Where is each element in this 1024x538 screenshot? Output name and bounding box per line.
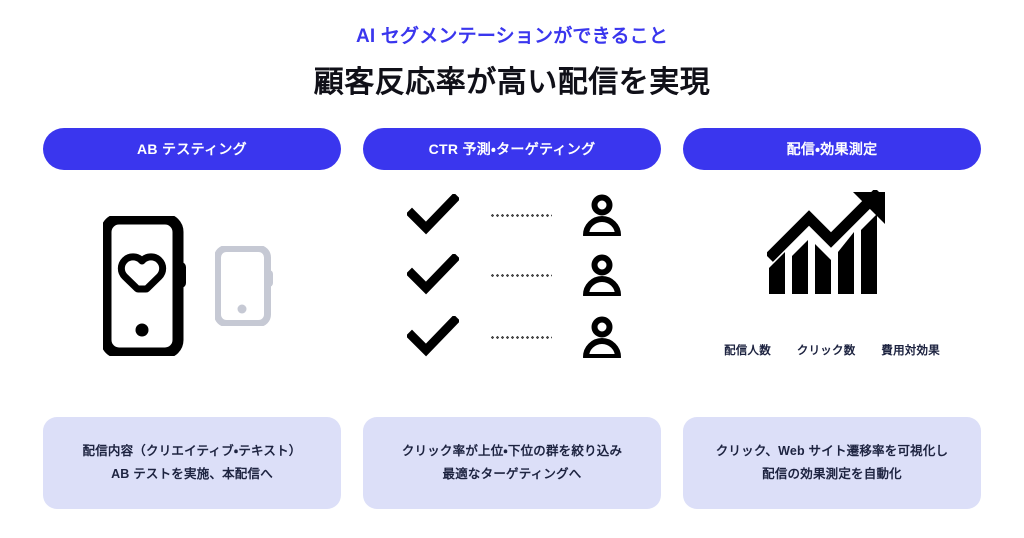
pill-header-ctr-targeting[interactable]: CTR 予測・ターゲティング [363, 128, 661, 170]
growth-bar-chart-icon [767, 190, 887, 306]
caption-line: 最適なターゲティングへ [443, 463, 582, 486]
phone-primary-icon [103, 216, 189, 356]
illustration-growth-chart: 配信人数 クリック数 費用対効果 [683, 180, 981, 412]
person-icon [583, 316, 623, 358]
dotted-connector-icon [490, 336, 552, 339]
person-icon [583, 254, 623, 296]
caption-line: AB テストを実施、本配信へ [111, 463, 273, 486]
caption-line: 配信内容（クリエイティブ・テキスト） [83, 440, 302, 463]
column-ctr-targeting: CTR 予測・ターゲティング [363, 128, 661, 512]
pill-header-delivery-measurement[interactable]: 配信・効果測定 [683, 128, 981, 170]
dotted-connector-icon [490, 274, 552, 277]
chart-label: 費用対効果 [881, 342, 940, 358]
chart-label: クリック数 [797, 342, 856, 358]
column-delivery-measurement: 配信・効果測定 配信人数 [683, 128, 981, 512]
caption-line: クリック、Web サイト遷移率を可視化し [716, 440, 949, 463]
caption-card-ctr-targeting: クリック率が上位・下位の群を絞り込み 最適なターゲティングへ [363, 417, 661, 509]
checkmark-icon [407, 316, 459, 358]
page-title: 顧客反応率が高い配信を実現 [0, 63, 1024, 102]
chart-label: 配信人数 [724, 342, 771, 358]
chart-axis-labels: 配信人数 クリック数 費用対効果 [697, 342, 967, 358]
person-icon [583, 194, 623, 236]
match-row [407, 252, 623, 298]
checkmark-icon [407, 254, 459, 296]
pill-header-ab-testing[interactable]: AB テスティング [43, 128, 341, 170]
caption-card-ab-testing: 配信内容（クリエイティブ・テキスト） AB テストを実施、本配信へ [43, 417, 341, 509]
checkmark-icon [407, 194, 459, 236]
caption-line: クリック率が上位・下位の群を絞り込み [402, 440, 622, 463]
caption-line: 配信の効果測定を自動化 [762, 463, 902, 486]
illustration-two-phones [43, 180, 341, 412]
dotted-connector-icon [490, 214, 552, 217]
match-row [407, 192, 623, 238]
phone-secondary-icon [215, 246, 275, 326]
illustration-check-person-rows [363, 180, 661, 412]
infographic-slide: AI セグメンテーションができること 顧客反応率が高い配信を実現 AB テスティ… [0, 0, 1024, 538]
eyebrow-title: AI セグメンテーションができること [0, 26, 1024, 49]
match-row [407, 314, 623, 360]
caption-card-delivery-measurement: クリック、Web サイト遷移率を可視化し 配信の効果測定を自動化 [683, 417, 981, 509]
column-ab-testing: AB テスティング 配信内容（クリエイティブ・テキスト） [43, 128, 341, 512]
